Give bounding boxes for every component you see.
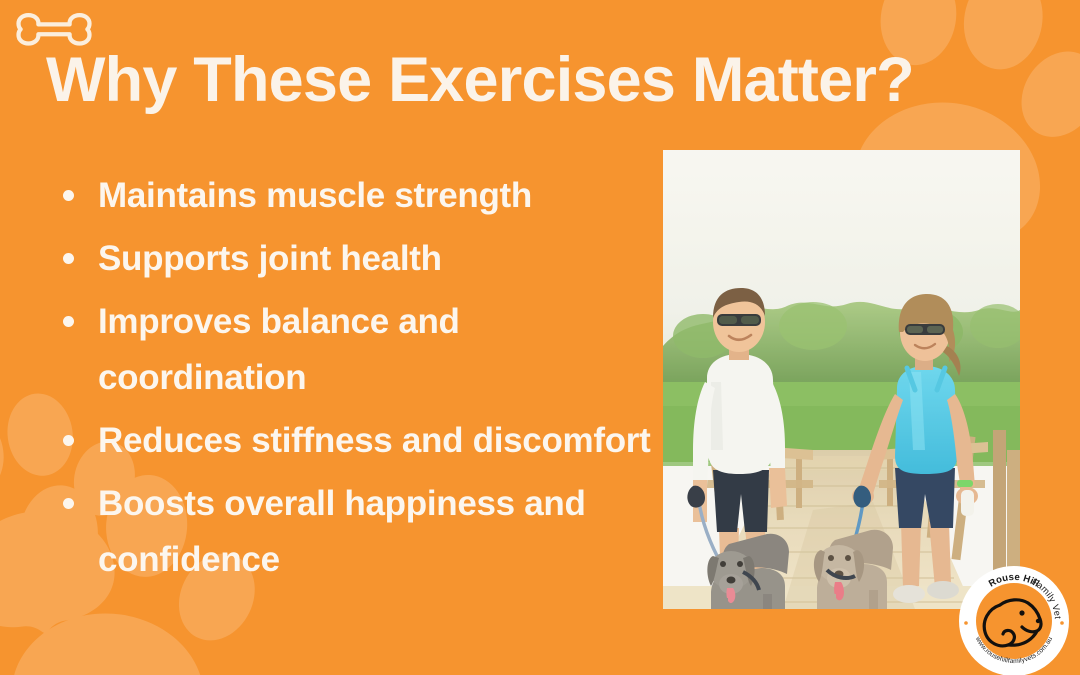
list-item: Maintains muscle strength [52, 168, 652, 224]
bullet-dot-icon [63, 316, 74, 327]
list-item: Boosts overall happiness and confidence [52, 476, 652, 588]
bullet-dot-icon [63, 253, 74, 264]
slide-canvas: Why These Exercises Matter? Maintains mu… [0, 0, 1080, 675]
dog-walking-photo [663, 150, 1020, 609]
list-item-label: Improves balance and coordination [98, 302, 460, 397]
list-item: Improves balance and coordination [52, 294, 652, 406]
page-title: Why These Exercises Matter? [46, 46, 1046, 114]
bullet-dot-icon [63, 498, 74, 509]
list-item: Reduces stiffness and discomfort [52, 413, 652, 469]
list-item-label: Supports joint health [98, 239, 442, 278]
bullet-dot-icon [63, 190, 74, 201]
benefits-list: Maintains muscle strength Supports joint… [52, 168, 652, 595]
list-item-label: Reduces stiffness and discomfort [98, 421, 650, 460]
list-item-label: Boosts overall happiness and confidence [98, 484, 586, 579]
list-item: Supports joint health [52, 231, 652, 287]
photo-frame [663, 150, 1020, 609]
logo-badge[interactable]: Rouse Hill Family Vets www.rousehillfami… [958, 565, 1070, 675]
bullet-dot-icon [63, 435, 74, 446]
list-item-label: Maintains muscle strength [98, 176, 532, 215]
